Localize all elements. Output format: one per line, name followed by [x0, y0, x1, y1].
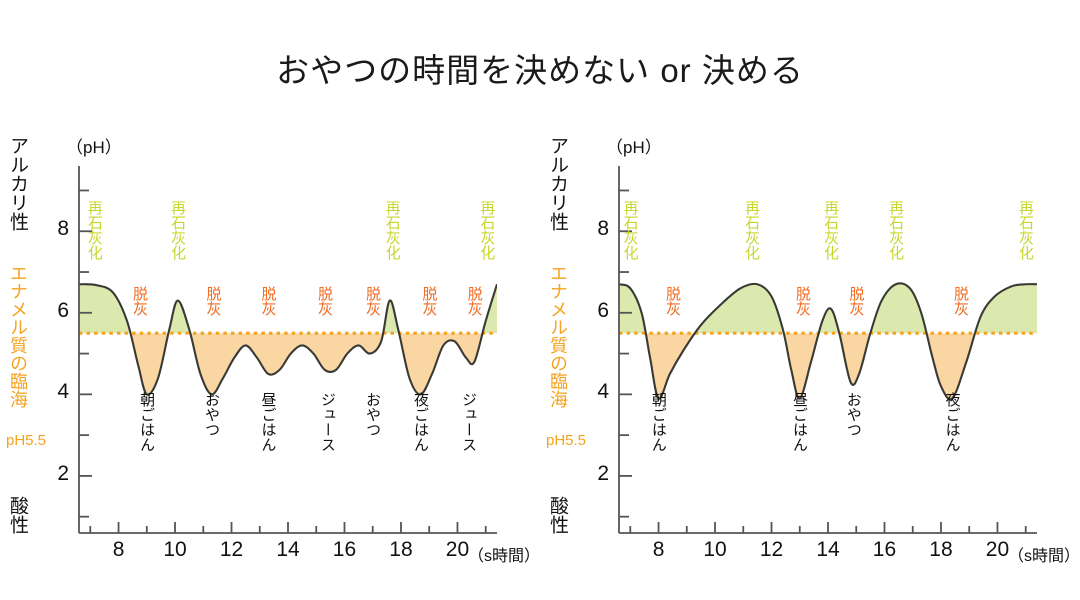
meal-event-label: ジュース: [461, 392, 476, 452]
x-tick-label-8: 8: [644, 538, 674, 562]
y-tick-label-8: 8: [43, 217, 69, 241]
remineralization-label: 再石灰化: [823, 200, 838, 260]
demineralization-label: 脱灰: [365, 286, 380, 316]
meal-event-label: 昼ごはん: [260, 392, 275, 452]
y-tick-label-6: 6: [583, 299, 609, 323]
x-tick-label-10: 10: [160, 538, 190, 562]
y-tick-label-4: 4: [583, 380, 609, 404]
x-axis-unit: （s時間）: [468, 542, 540, 566]
meal-event-label: 夜ごはん: [413, 392, 428, 452]
axis-label-acidic: 酸性: [548, 496, 567, 534]
demineralization-label: 脱灰: [848, 286, 863, 316]
meal-event-label: 朝ごはん: [139, 392, 154, 452]
y-tick-label-2: 2: [43, 462, 69, 486]
axis-label-ph-critical-value: pH5.5: [6, 432, 46, 449]
axis-label-acidic: 酸性: [8, 496, 27, 534]
remineralization-label: 再石灰化: [170, 200, 185, 260]
x-tick-label-18: 18: [926, 538, 956, 562]
x-tick-label-12: 12: [757, 538, 787, 562]
chart-panel-right: アルカリ性エナメル質の臨海pH5.5酸性（pH）（s時間）86428101214…: [540, 0, 1080, 600]
meal-event-label: おやつ: [845, 392, 860, 437]
x-tick-label-20: 20: [982, 538, 1012, 562]
remineralization-label: 再石灰化: [622, 200, 637, 260]
remineralization-label: 再石灰化: [479, 200, 494, 260]
y-tick-label-4: 4: [43, 380, 69, 404]
y-axis-unit: （pH）: [66, 133, 122, 158]
demineralization-label: 脱灰: [953, 286, 968, 316]
remineralization-label: 再石灰化: [744, 200, 759, 260]
x-tick-label-14: 14: [813, 538, 843, 562]
axis-label-enamel-critical: エナメル質の臨海: [549, 264, 567, 408]
meal-event-label: ジュース: [320, 392, 335, 452]
demineralization-label: 脱灰: [205, 286, 220, 316]
remineralization-label: 再石灰化: [888, 200, 903, 260]
remineralization-label: 再石灰化: [1018, 200, 1033, 260]
remineralization-label: 再石灰化: [87, 200, 102, 260]
meal-event-label: 朝ごはん: [651, 392, 666, 452]
demineralization-label: 脱灰: [795, 286, 810, 316]
x-tick-label-14: 14: [273, 538, 303, 562]
axis-label-ph-critical-value: pH5.5: [546, 432, 586, 449]
axis-label-alkaline: アルカリ性: [548, 136, 567, 231]
y-axis-unit: （pH）: [606, 133, 662, 158]
demineralization-label: 脱灰: [665, 286, 680, 316]
x-axis-unit: （s時間）: [1008, 542, 1080, 566]
x-tick-label-12: 12: [217, 538, 247, 562]
x-tick-label-8: 8: [104, 538, 134, 562]
x-tick-label-10: 10: [700, 538, 730, 562]
meal-event-label: おやつ: [204, 392, 219, 437]
demineralization-label: 脱灰: [421, 286, 436, 316]
demineralization-label: 脱灰: [317, 286, 332, 316]
x-tick-label-18: 18: [386, 538, 416, 562]
y-tick-label-8: 8: [583, 217, 609, 241]
meal-event-label: おやつ: [365, 392, 380, 437]
y-tick-label-6: 6: [43, 299, 69, 323]
demineralization-label: 脱灰: [260, 286, 275, 316]
remineralization-label: 再石灰化: [385, 200, 400, 260]
y-tick-label-2: 2: [583, 462, 609, 486]
axis-label-enamel-critical: エナメル質の臨海: [9, 264, 27, 408]
demineralization-label: 脱灰: [466, 286, 481, 316]
x-tick-label-16: 16: [869, 538, 899, 562]
chart-panel-left: アルカリ性エナメル質の臨海pH5.5酸性（pH）（s時間）86428101214…: [0, 0, 540, 600]
x-tick-label-16: 16: [329, 538, 359, 562]
meal-event-label: 夜ごはん: [944, 392, 959, 452]
axis-label-alkaline: アルカリ性: [8, 136, 27, 231]
demineralization-area: [619, 283, 1037, 399]
meal-event-label: 昼ごはん: [792, 392, 807, 452]
x-tick-label-20: 20: [442, 538, 472, 562]
demineralization-label: 脱灰: [132, 286, 147, 316]
